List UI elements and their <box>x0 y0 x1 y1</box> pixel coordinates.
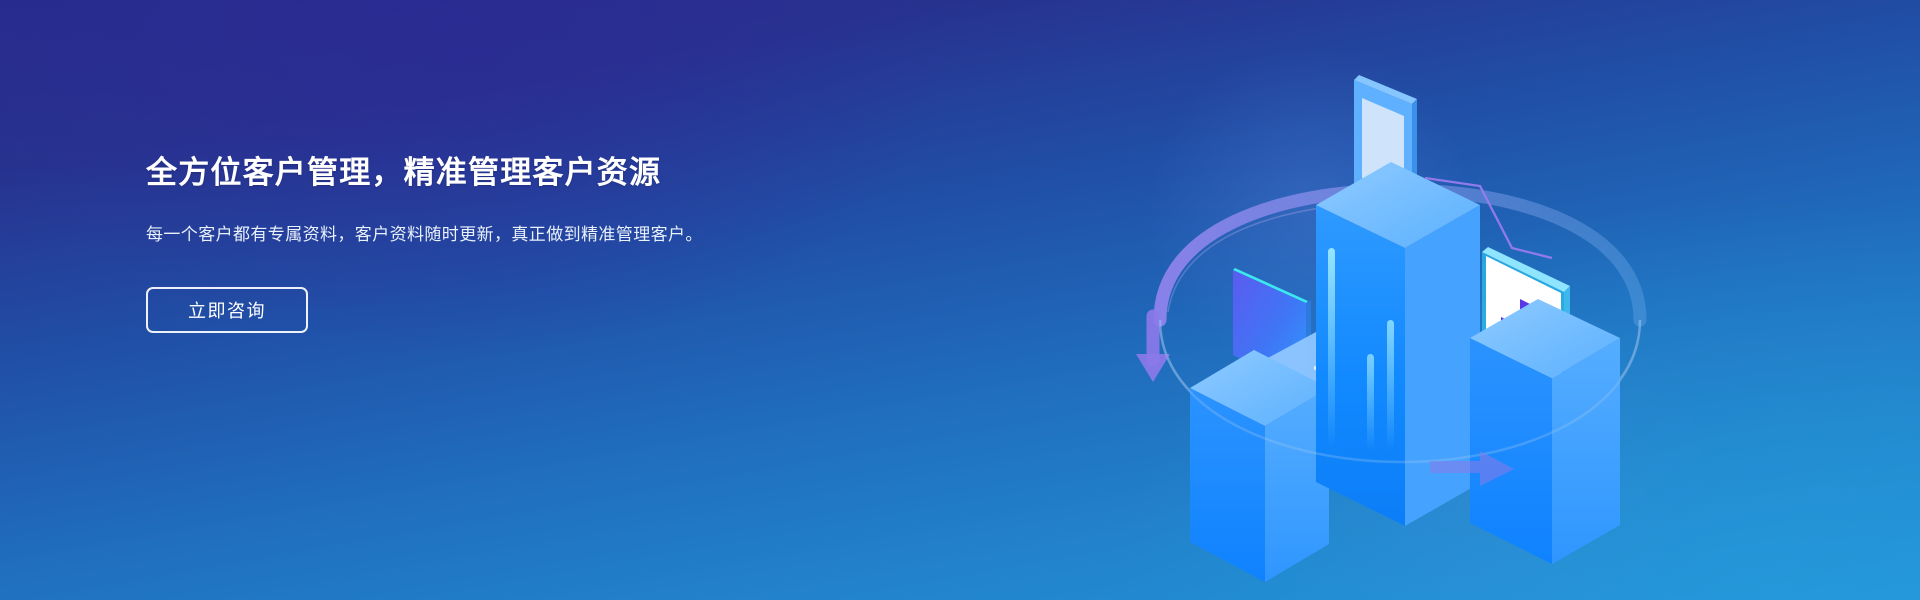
page-title: 全方位客户管理，精准管理客户资源 <box>146 150 786 196</box>
hero-subtext: 每一个客户都有专属资料，客户资料随时更新，真正做到精准管理客户。 <box>146 221 731 248</box>
hero-banner: 全方位客户管理，精准管理客户资源 每一个客户都有专属资料，客户资料随时更新，真正… <box>0 0 1920 600</box>
hero-illustration <box>1120 20 1680 600</box>
hero-copy-block: 全方位客户管理，精准管理客户资源 每一个客户都有专属资料，客户资料随时更新，真正… <box>146 150 786 333</box>
consult-now-button[interactable]: 立即咨询 <box>146 287 308 333</box>
